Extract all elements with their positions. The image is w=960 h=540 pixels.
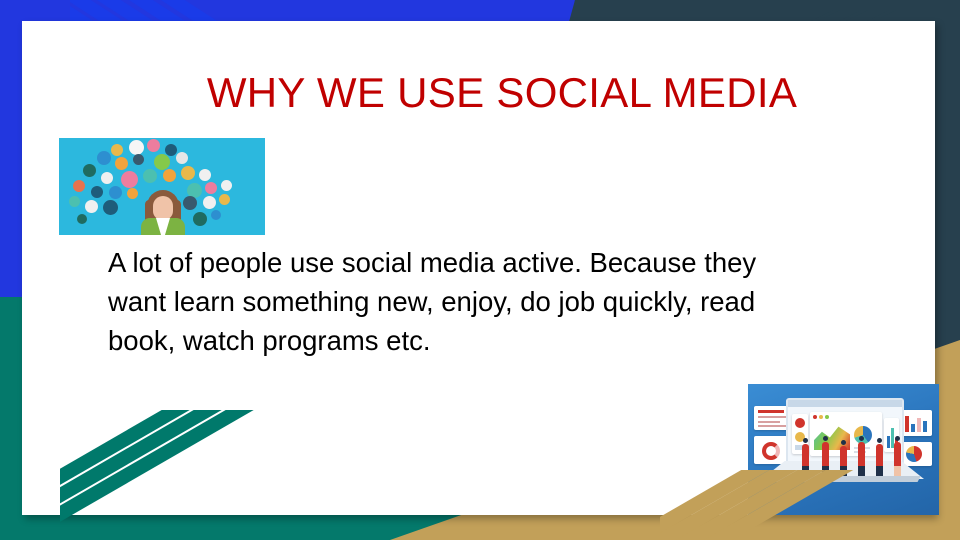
bottom-right-stripes-decoration [660, 470, 960, 540]
slide-title: WHY WE USE SOCIAL MEDIA [192, 66, 812, 120]
person-figure [802, 444, 809, 466]
person-figure [822, 442, 829, 466]
person-figure [840, 446, 847, 466]
woman-face [153, 196, 173, 220]
bottom-left-stripes-decoration [60, 410, 460, 540]
person-figure-presenter [894, 442, 901, 466]
social-media-bubbles-image [59, 138, 265, 235]
person-figure [858, 442, 865, 466]
presentation-slide: WHY WE USE SOCIAL MEDIA [0, 0, 960, 540]
slide-body-text: A lot of people use social media active.… [108, 243, 808, 360]
person-figure [876, 444, 883, 466]
